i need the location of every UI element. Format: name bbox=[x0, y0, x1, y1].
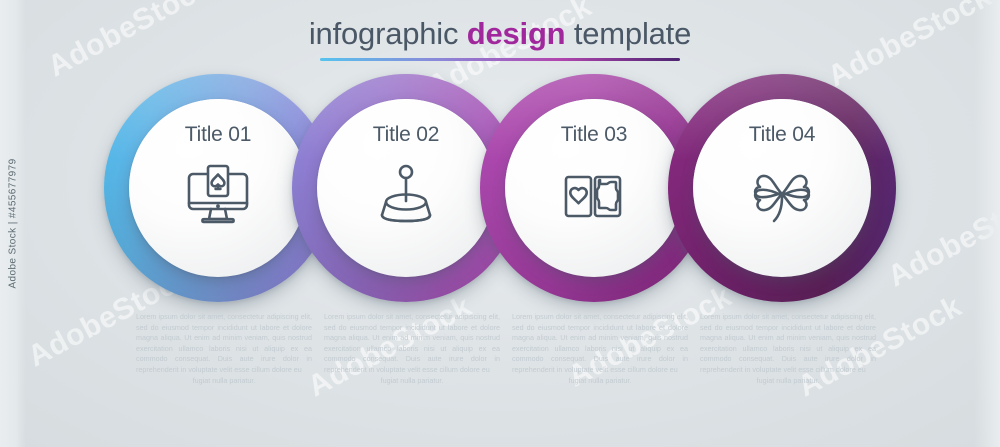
step-disc-2[interactable]: Title 02 bbox=[317, 99, 495, 277]
step-node-4[interactable]: Title 04 bbox=[668, 74, 896, 302]
playing-cards-icon bbox=[557, 159, 631, 233]
title-part-2: template bbox=[565, 16, 691, 51]
step-title-3: Title 03 bbox=[561, 123, 628, 147]
description-last-line-1: fugiat nulla pariatur. bbox=[136, 376, 312, 387]
description-body-2: Lorem ipsum dolor sit amet, consectetur … bbox=[324, 312, 500, 374]
description-body-3: Lorem ipsum dolor sit amet, consectetur … bbox=[512, 312, 688, 374]
steps-row: Title 01 Title 02 bbox=[0, 74, 1000, 302]
descriptions-row: Lorem ipsum dolor sit amet, consectetur … bbox=[0, 312, 1000, 407]
step-disc-4[interactable]: Title 04 bbox=[693, 99, 871, 277]
description-last-line-2: fugiat nulla pariatur. bbox=[324, 376, 500, 387]
monitor-spade-card-icon bbox=[181, 159, 255, 233]
four-leaf-clover-icon bbox=[745, 159, 819, 233]
step-description-2: Lorem ipsum dolor sit amet, consectetur … bbox=[324, 312, 500, 386]
page-title: infographic design template bbox=[0, 14, 1000, 54]
page-header: infographic design template bbox=[0, 14, 1000, 61]
title-underline-rule bbox=[320, 58, 680, 61]
step-title-4: Title 04 bbox=[749, 123, 816, 147]
title-part-1: infographic bbox=[309, 16, 467, 51]
step-disc-1[interactable]: Title 01 bbox=[129, 99, 307, 277]
joystick-icon bbox=[369, 159, 443, 233]
step-title-1: Title 01 bbox=[185, 123, 252, 147]
description-last-line-3: fugiat nulla pariatur. bbox=[512, 376, 688, 387]
step-description-3: Lorem ipsum dolor sit amet, consectetur … bbox=[512, 312, 688, 386]
description-last-line-4: fugiat nulla pariatur. bbox=[700, 376, 876, 387]
title-accent-word: design bbox=[467, 16, 566, 51]
description-body-4: Lorem ipsum dolor sit amet, consectetur … bbox=[700, 312, 876, 374]
step-description-1: Lorem ipsum dolor sit amet, consectetur … bbox=[136, 312, 312, 386]
step-title-2: Title 02 bbox=[373, 123, 440, 147]
step-disc-3[interactable]: Title 03 bbox=[505, 99, 683, 277]
description-body-1: Lorem ipsum dolor sit amet, consectetur … bbox=[136, 312, 312, 374]
step-description-4: Lorem ipsum dolor sit amet, consectetur … bbox=[700, 312, 876, 386]
